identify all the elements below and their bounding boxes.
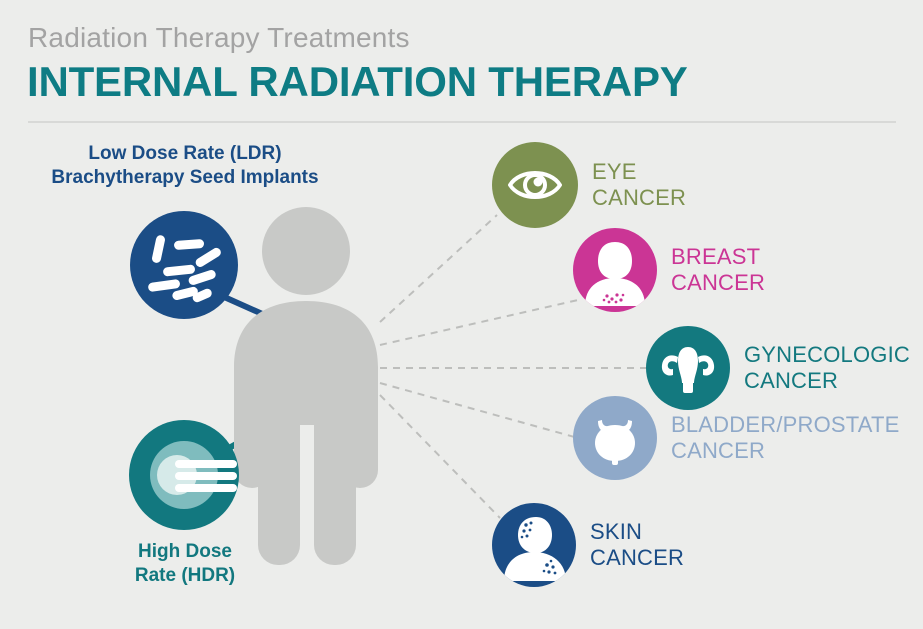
body-head bbox=[262, 207, 350, 295]
cancer-circle-eye[interactable] bbox=[492, 142, 578, 228]
dose-source-icon bbox=[129, 420, 239, 530]
infographic-root: Radiation Therapy Treatments INTERNAL RA… bbox=[0, 0, 923, 629]
body-right-leg bbox=[314, 405, 356, 565]
eyebrow-text: Radiation Therapy Treatments bbox=[28, 22, 410, 54]
cancer-node-bladder[interactable]: BLADDER/PROSTATE CANCER bbox=[573, 396, 900, 480]
bladder-icon bbox=[586, 409, 644, 467]
cancer-label-breast: BREAST CANCER bbox=[671, 244, 765, 295]
breast-icon bbox=[573, 228, 657, 312]
cancer-node-skin[interactable]: SKIN CANCER bbox=[492, 503, 684, 587]
treatment-ldr-circle[interactable] bbox=[130, 211, 238, 319]
cancer-label-eye: EYE CANCER bbox=[592, 159, 686, 210]
cancer-circle-bladder[interactable] bbox=[573, 396, 657, 480]
cancer-label-bladder: BLADDER/PROSTATE CANCER bbox=[671, 412, 900, 463]
uterus-icon bbox=[657, 337, 719, 399]
skin-icon bbox=[492, 503, 576, 587]
cancer-label-skin: SKIN CANCER bbox=[590, 519, 684, 570]
human-body-silhouette bbox=[230, 205, 410, 595]
treatment-hdr-circle[interactable] bbox=[129, 420, 239, 530]
dose-beams bbox=[175, 460, 237, 492]
cancer-node-breast[interactable]: BREAST CANCER bbox=[573, 228, 765, 312]
treatment-hdr-label: High Dose Rate (HDR) bbox=[60, 540, 310, 589]
cancer-circle-skin[interactable] bbox=[492, 503, 576, 587]
cancer-node-eye[interactable]: EYE CANCER bbox=[492, 142, 686, 228]
seed-implants-icon bbox=[130, 211, 238, 319]
page-title: INTERNAL RADIATION THERAPY bbox=[27, 58, 688, 106]
treatment-ldr-label: Low Dose Rate (LDR) Brachytherapy Seed I… bbox=[0, 142, 370, 191]
cancer-circle-breast[interactable] bbox=[573, 228, 657, 312]
cancer-label-gyn: GYNECOLOGIC CANCER bbox=[744, 342, 910, 393]
header: Radiation Therapy Treatments INTERNAL RA… bbox=[0, 0, 923, 125]
title-divider bbox=[28, 121, 896, 123]
eye-icon bbox=[506, 156, 564, 214]
